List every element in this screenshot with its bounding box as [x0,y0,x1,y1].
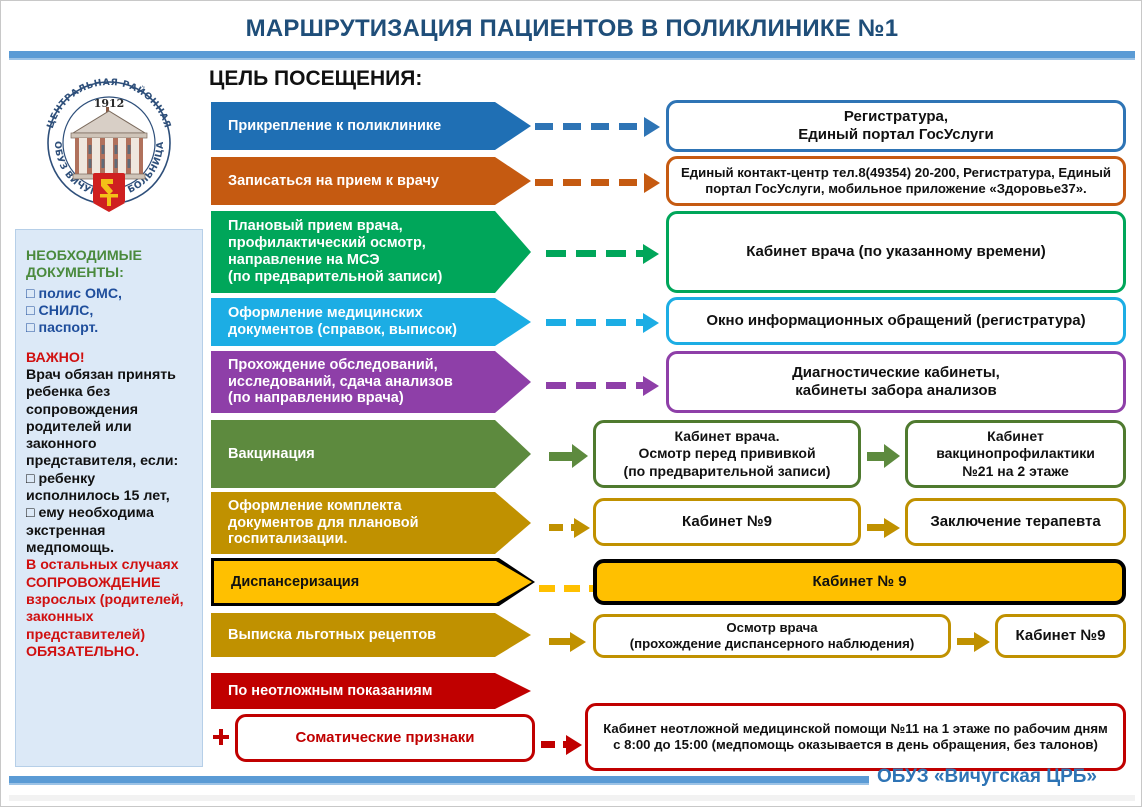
flow-arrow-hospitalization-2 [867,517,900,538]
flow-arrow-hospitalization-1 [549,517,590,538]
flow-source-vaccination[interactable]: Вакцинация [211,420,531,488]
flow-source-label: Оформление медицинских документов (справ… [228,305,457,339]
coat-of-arms-icon [93,173,125,212]
flow-target-doctor-office[interactable]: Кабинет врача (по указанному времени) [666,211,1126,293]
header-divider [9,51,1135,58]
flow-arrow-vaccination-1 [549,444,588,468]
document-item: □ полис ОМС, [26,286,192,303]
flow-target-vaccination-exam[interactable]: Кабинет врача. Осмотр перед прививкой (п… [593,420,861,488]
flow-arrow-attachment [535,116,660,137]
flow-target-emergency-room[interactable]: Кабинет неотложной медицинской помощи №1… [585,703,1126,771]
footer-divider-thin [9,783,869,785]
condition-item: □ ему необходима экстренная медпомощь. [26,505,192,557]
important-body: Врач обязан принять ребенка без сопровож… [26,367,192,471]
flow-source-attachment[interactable]: Прикрепление к поликлинике [211,102,531,150]
flow-target-doctor-observation[interactable]: Осмотр врача (прохождение диспансерного … [593,614,951,658]
flow-arrow-appointment [535,172,660,193]
flow-target-diagnostics[interactable]: Диагностические кабинеты, кабинеты забор… [666,351,1126,413]
accompaniment-note: В остальных случаях СОПРОВОЖДЕНИЕ взросл… [26,557,192,661]
flow-source-label: Записаться на прием к врачу [228,173,439,190]
flow-source-label: Оформление комплекта документов для план… [228,498,419,549]
poster-root: МАРШРУТИЗАЦИЯ ПАЦИЕНТОВ В ПОЛИКЛИНИКЕ №1… [0,0,1142,807]
bottom-bar [9,795,1135,801]
flow-arrow-vaccination-2 [867,444,900,468]
required-documents-panel: НЕОБХОДИМЫЕ ДОКУМЕНТЫ: □ полис ОМС, □ СН… [15,229,203,767]
flow-target-registry[interactable]: Регистратура, Единый портал ГосУслуги [666,100,1126,152]
flow-source-label: По неотложным показаниям [228,683,432,700]
flow-source-hospitalization[interactable]: Оформление комплекта документов для план… [211,492,531,554]
flow-source-label: Выписка льготных рецептов [228,627,436,644]
flow-source-label: Прохождение обследований, исследований, … [228,357,453,408]
flow-source-prescriptions[interactable]: Выписка льготных рецептов [211,613,531,657]
flow-source-checkup[interactable]: Диспансеризация [214,561,532,603]
flow-source-medical-documents[interactable]: Оформление медицинских документов (справ… [211,298,531,346]
flow-target-info-window[interactable]: Окно информационных обращений (регистрат… [666,297,1126,345]
flow-source-somatic[interactable]: Соматические признаки [235,714,535,762]
flow-arrow-somatic [541,734,582,755]
panel-heading: НЕОБХОДИМЫЕ ДОКУМЕНТЫ: [26,248,192,283]
flow-arrow-examinations [546,375,659,396]
flow-source-examinations[interactable]: Прохождение обследований, исследований, … [211,351,531,413]
flow-target-contact-center[interactable]: Единый контакт-центр тел.8(49354) 20-200… [666,156,1126,206]
footer-organization: ОБУЗ «Вичугская ЦРБ» [877,766,1097,788]
document-item: □ паспорт. [26,320,192,337]
flow-source-label: Прикрепление к поликлинике [228,118,441,135]
page-title: МАРШРУТИЗАЦИЯ ПАЦИЕНТОВ В ПОЛИКЛИНИКЕ №1 [246,15,899,43]
flow-source-label: Диспансеризация [231,574,359,591]
flow-source-appointment[interactable]: Записаться на прием к врачу [211,157,531,205]
flow-target-office-9-prescriptions[interactable]: Кабинет №9 [995,614,1126,658]
flow-arrow-prescriptions-2 [957,631,990,652]
flow-target-vaccination-room[interactable]: Кабинет вакцинопрофилактики №21 на 2 эта… [905,420,1126,488]
emblem-icon: ЦЕНТРАЛЬНАЯ РАЙОННАЯ ОБУЗ ВИЧУГСКАЯ БОЛЬ… [29,63,189,215]
flow-target-office-9-hosp[interactable]: Кабинет №9 [593,498,861,546]
flow-source-label: Вакцинация [228,446,315,463]
poster-header: МАРШРУТИЗАЦИЯ ПАЦИЕНТОВ В ПОЛИКЛИНИКЕ №1 [9,7,1135,51]
header-divider-thin [9,58,1135,60]
document-item: □ СНИЛС, [26,303,192,320]
flow-arrow-prescriptions-1 [549,631,586,652]
flow-arrow-medical-documents [546,312,659,333]
panel-spacer [26,338,192,350]
condition-item: □ ребенку исполнилось 15 лет, [26,471,192,506]
section-label-purpose: ЦЕЛЬ ПОСЕЩЕНИЯ: [209,67,422,91]
flow-target-therapist-conclusion[interactable]: Заключение терапевта [905,498,1126,546]
important-label: ВАЖНО! [26,350,192,367]
red-cross-icon [213,729,229,745]
flow-target-office-9-checkup[interactable]: Кабинет № 9 [593,559,1126,605]
flow-arrow-planned-visit [546,243,659,264]
flow-source-emergency[interactable]: По неотложным показаниям [211,673,531,709]
footer-divider [9,776,869,783]
flow-source-label: Плановый прием врача, профилактический о… [228,218,442,286]
flow-source-planned-visit[interactable]: Плановый прием врача, профилактический о… [211,211,531,293]
hospital-logo: ЦЕНТРАЛЬНАЯ РАЙОННАЯ ОБУЗ ВИЧУГСКАЯ БОЛЬ… [29,63,189,215]
